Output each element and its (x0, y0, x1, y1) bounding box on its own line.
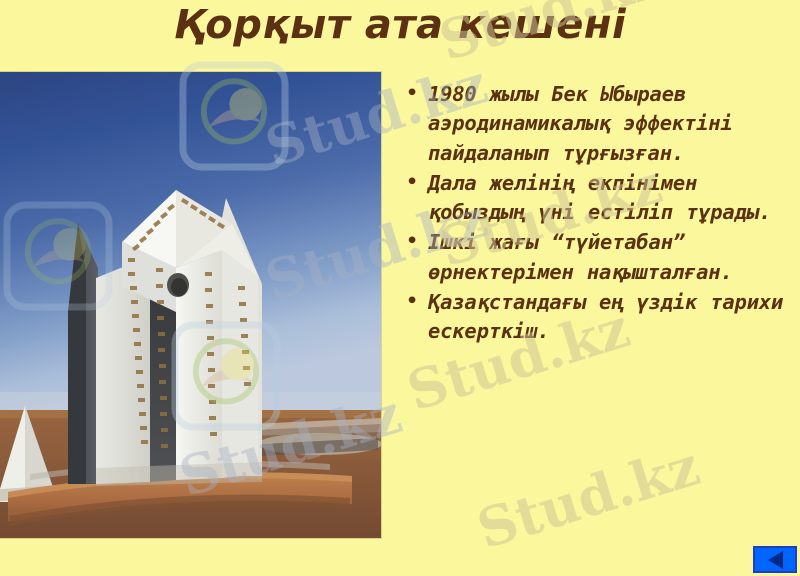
slide-title: Қорқыт ата кешені (0, 0, 800, 52)
monument-photo (0, 72, 381, 538)
bullet-item-4: Қазақстандағы ең үздік тарихи ескерткіш. (398, 288, 800, 347)
nav-back-button[interactable] (753, 546, 797, 573)
bullet-item-3: Ішкі жағы “түйетабан” өрнектерімен нақыш… (398, 228, 800, 287)
triangle-left-icon (768, 551, 783, 569)
monument-photo-graphic (0, 72, 381, 538)
slide-canvas: Қорқыт ата кешені 1980 жылы Бек Ыбыраев … (0, 0, 800, 576)
bullet-list: 1980 жылы Бек Ыбыраев аэродинамикалық эф… (398, 80, 800, 348)
watermark-text: Stud.kz (470, 433, 707, 561)
bullet-item-1: 1980 жылы Бек Ыбыраев аэродинамикалық эф… (398, 80, 800, 168)
bullet-item-2: Дала желінің екпінімен қобыздың үні есті… (398, 169, 800, 228)
